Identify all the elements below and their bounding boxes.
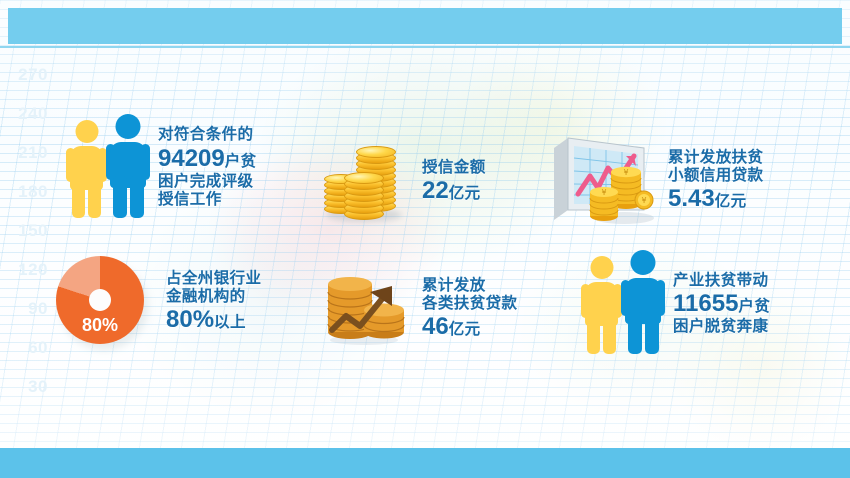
stat-line: 授信金额 <box>422 159 486 177</box>
stat-value-row: 22亿元 <box>422 177 486 205</box>
coins-rising-arrow-icon <box>320 272 408 346</box>
stat-rated-households: 对符合条件的 94209户贫 困户完成评级 授信工作 <box>70 118 257 218</box>
stat-line: 各类扶贫贷款 <box>422 295 517 313</box>
stat-total-poverty-loans: 累计发放 各类扶贫贷款 46亿元 <box>320 272 517 346</box>
stat-value-row: 46亿元 <box>422 313 517 341</box>
person-yellow-icon <box>70 120 103 218</box>
svg-text:¥: ¥ <box>623 168 628 177</box>
stat-value-row: 11655户贫 <box>673 290 770 318</box>
stat-value-suffix: 户贫 <box>225 153 257 170</box>
stat-value: 11655 <box>673 290 738 317</box>
person-blue-icon <box>110 114 146 218</box>
stat-text: 占全州银行业 金融机构的 80%以上 <box>166 270 261 335</box>
stat-text: 授信金额 22亿元 <box>422 159 486 206</box>
stat-micro-credit-loans: ¥ ¥ <box>548 134 763 228</box>
stat-line: 累计发放 <box>422 277 517 295</box>
stat-line: 对符合条件的 <box>158 126 257 144</box>
stats-grid: 对符合条件的 94209户贫 困户完成评级 授信工作 <box>0 0 850 478</box>
donut-chart-icon: 80% <box>56 256 148 348</box>
infographic-canvas: 270 240 210 180 150 120 90 60 30 <box>0 0 850 478</box>
stat-line: 金融机构的 <box>166 288 261 306</box>
stat-value-suffix: 亿元 <box>449 185 481 202</box>
person-yellow-icon <box>585 256 618 354</box>
svg-text:¥: ¥ <box>601 188 606 197</box>
person-blue-icon <box>625 250 661 354</box>
stat-value-row: 94209户贫 <box>158 145 257 173</box>
stat-line: 授信工作 <box>158 191 257 209</box>
stat-text: 产业扶贫带动 11655户贫 困户脱贫奔康 <box>673 272 770 337</box>
stat-value-row: 5.43亿元 <box>668 185 763 213</box>
stat-value: 80% <box>166 306 214 333</box>
stat-value: 22 <box>422 177 449 204</box>
stat-line: 产业扶贫带动 <box>673 272 770 290</box>
coin-stacks-icon <box>322 138 408 226</box>
stat-value: 5.43 <box>668 185 715 212</box>
donut-hole <box>89 289 111 311</box>
stat-value-suffix: 户贫 <box>738 298 770 315</box>
stat-value: 46 <box>422 313 449 340</box>
stat-value-suffix: 亿元 <box>715 193 747 210</box>
two-people-icon <box>70 118 148 218</box>
donut-percent-label: 80% <box>56 315 144 336</box>
stat-value: 94209 <box>158 145 225 172</box>
stat-line: 占全州银行业 <box>166 270 261 288</box>
chart-board-coins-icon: ¥ ¥ <box>548 134 660 228</box>
stat-value-suffix: 以上 <box>214 314 246 331</box>
two-people-icon <box>585 254 663 354</box>
stat-text: 累计发放 各类扶贫贷款 46亿元 <box>422 277 517 342</box>
stat-industry-lifted-households: 产业扶贫带动 11655户贫 困户脱贫奔康 <box>585 254 770 354</box>
stat-line: 困户脱贫奔康 <box>673 318 770 336</box>
stat-text: 累计发放扶贫 小额信用贷款 5.43亿元 <box>668 149 763 214</box>
stat-share-of-banks: 80% 占全州银行业 金融机构的 80%以上 <box>56 256 261 348</box>
svg-text:¥: ¥ <box>641 196 646 205</box>
stat-text: 对符合条件的 94209户贫 困户完成评级 授信工作 <box>158 126 257 209</box>
stat-credit-amount: 授信金额 22亿元 <box>322 138 486 226</box>
stat-line: 累计发放扶贫 <box>668 149 763 167</box>
stat-value-suffix: 亿元 <box>449 321 481 338</box>
stat-line: 困户完成评级 <box>158 173 257 191</box>
stat-value-row: 80%以上 <box>166 306 261 334</box>
stat-line: 小额信用贷款 <box>668 167 763 185</box>
